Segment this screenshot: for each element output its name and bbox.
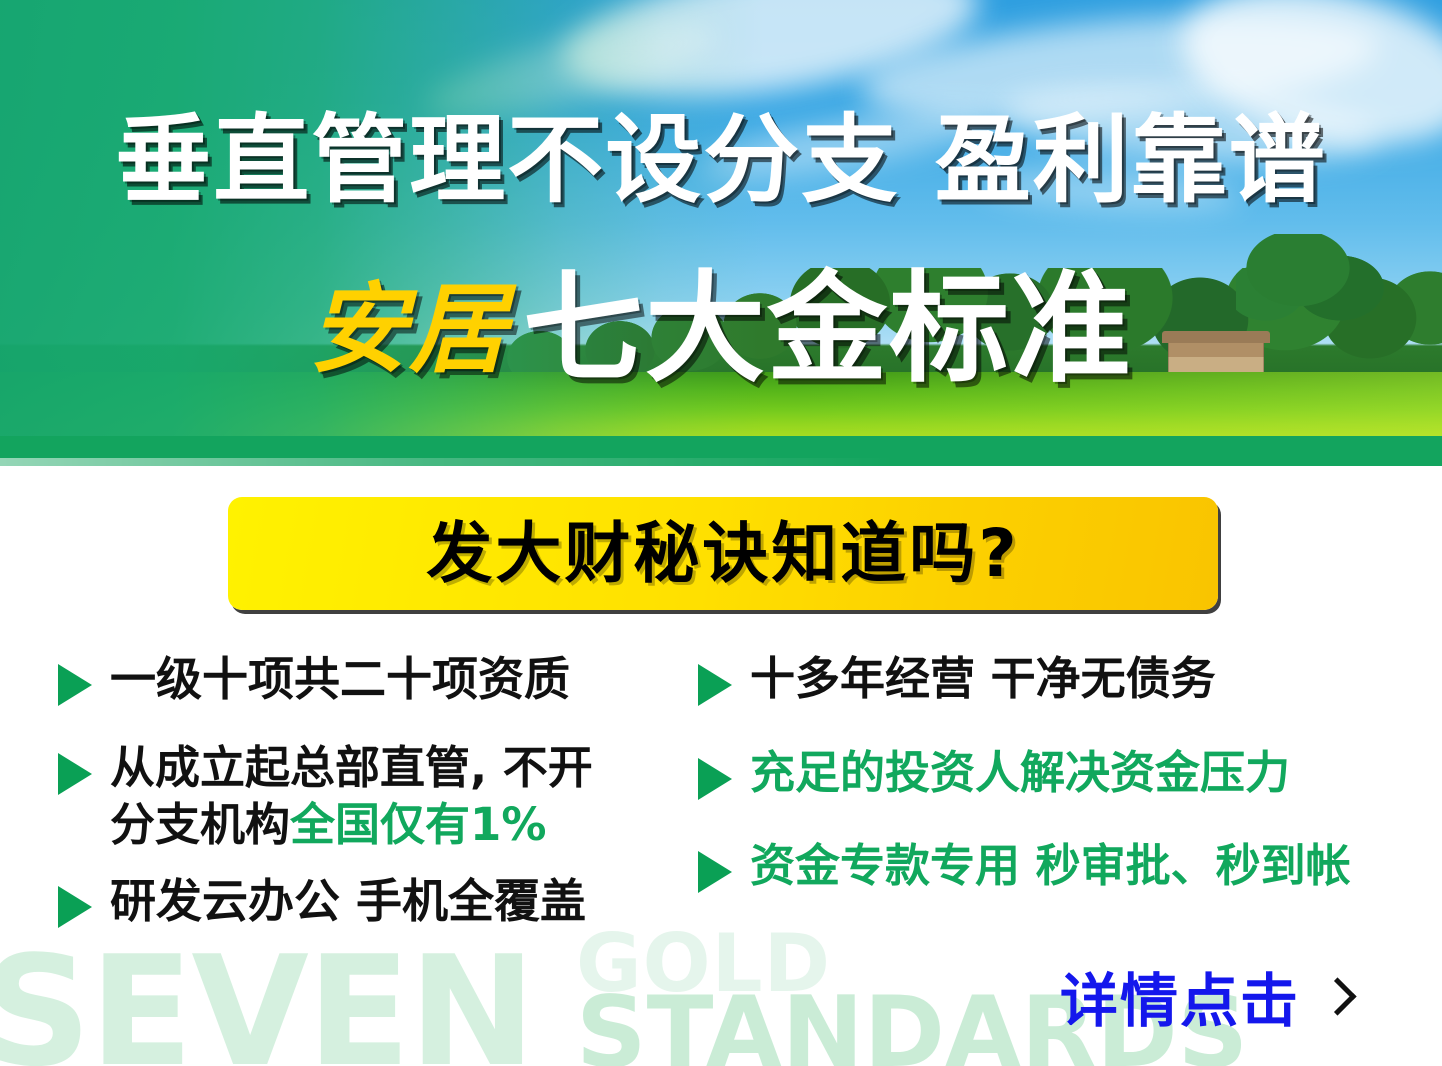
triangle-bullet-icon <box>58 753 92 795</box>
triangle-bullet-icon <box>698 758 732 800</box>
features-left-column: 一级十项共二十项资质从成立起总部直管, 不开分支机构全国仅有1%研发云办公 手机… <box>58 650 678 957</box>
feature-text-segment: 一级十项共二十项资质 <box>110 652 570 706</box>
triangle-bullet-icon <box>58 886 92 928</box>
feature-bullet: 研发云办公 手机全覆盖 <box>58 872 678 931</box>
hero-headline-brand: 安居 <box>309 281 509 379</box>
triangle-bullet-icon <box>58 664 92 706</box>
hero-headline-slogan: 七大金标准 <box>523 270 1133 390</box>
feature-bullet-line: 分支机构全国仅有1% <box>110 796 593 854</box>
details-cta-label: 详情点击 <box>1060 972 1300 1030</box>
feature-bullet-line: 从成立起总部直管, 不开 <box>110 739 593 797</box>
hero-section: 垂直管理不设分支 盈利靠谱 安居 七大金标准 <box>0 0 1442 466</box>
feature-bullet-line: 一级十项共二十项资质 <box>110 650 570 709</box>
features-section: 一级十项共二十项资质从成立起总部直管, 不开分支机构全国仅有1%研发云办公 手机… <box>0 650 1442 980</box>
feature-bullet: 一级十项共二十项资质 <box>58 650 678 709</box>
triangle-bullet-icon <box>698 851 732 893</box>
triangle-bullet-icon <box>698 664 732 706</box>
feature-text-segment: 资金专款专用 秒审批、秒到帐 <box>750 839 1351 892</box>
feature-bullet: 充足的投资人解决资金压力 <box>698 744 1418 802</box>
chevron-right-icon <box>1322 979 1348 1023</box>
feature-text-segment: 研发云办公 手机全覆盖 <box>110 874 586 928</box>
feature-bullet-line: 研发云办公 手机全覆盖 <box>110 872 586 931</box>
feature-text-segment: 从成立起总部直管, 不开 <box>110 741 593 794</box>
feature-bullet: 资金专款专用 秒审批、秒到帐 <box>698 837 1418 895</box>
feature-bullet-text: 从成立起总部直管, 不开分支机构全国仅有1% <box>110 739 593 854</box>
hero-headline-secondary: 安居 七大金标准 <box>0 270 1442 390</box>
features-right-column: 十多年经营 干净无债务充足的投资人解决资金压力资金专款专用 秒审批、秒到帐 <box>698 650 1418 931</box>
feature-bullet-text: 一级十项共二十项资质 <box>110 650 570 709</box>
promo-banner[interactable]: 发大财秘诀知道吗? <box>228 497 1218 610</box>
feature-text-segment: 分支机构 <box>110 798 290 851</box>
feature-bullet-text: 资金专款专用 秒审批、秒到帐 <box>750 837 1351 895</box>
feature-text-segment: 十多年经营 干净无债务 <box>750 652 1216 705</box>
promo-banner-text: 发大财秘诀知道吗? <box>426 521 1019 587</box>
feature-bullet-text: 充足的投资人解决资金压力 <box>750 744 1290 802</box>
feature-bullet: 十多年经营 干净无债务 <box>698 650 1418 708</box>
ad-banner-page: 垂直管理不设分支 盈利靠谱 安居 七大金标准 发大财秘诀知道吗? SEVEN G… <box>0 0 1442 1066</box>
feature-bullet-line: 充足的投资人解决资金压力 <box>750 744 1290 802</box>
feature-bullet: 从成立起总部直管, 不开分支机构全国仅有1% <box>58 739 678 854</box>
hero-bottom-green-bar <box>0 436 1442 466</box>
hero-headline-primary: 垂直管理不设分支 盈利靠谱 <box>0 112 1442 208</box>
feature-bullet-line: 资金专款专用 秒审批、秒到帐 <box>750 837 1351 895</box>
feature-bullet-line: 十多年经营 干净无债务 <box>750 650 1216 708</box>
details-cta-button[interactable]: 详情点击 <box>1060 972 1348 1030</box>
feature-bullet-text: 研发云办公 手机全覆盖 <box>110 872 586 931</box>
feature-text-segment: 充足的投资人解决资金压力 <box>750 746 1290 799</box>
feature-bullet-text: 十多年经营 干净无债务 <box>750 650 1216 708</box>
feature-text-segment: 全国仅有1% <box>290 798 546 851</box>
